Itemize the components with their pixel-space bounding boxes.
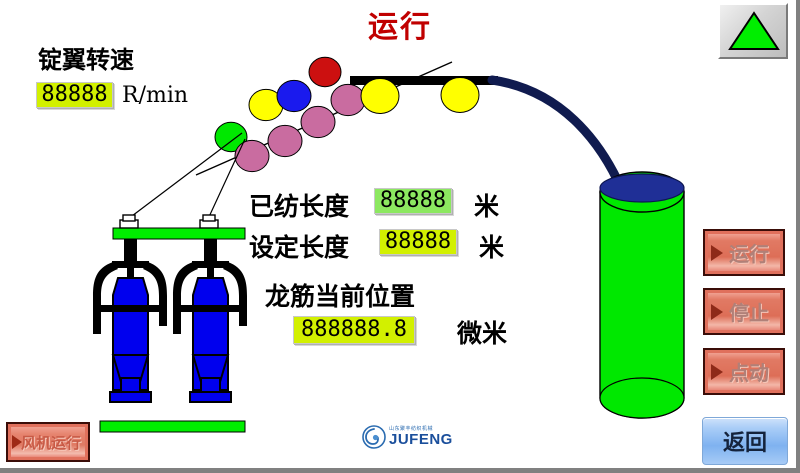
roving-package bbox=[331, 84, 365, 115]
hmi-screen: 运行 bbox=[0, 0, 800, 473]
flyer-speed-label: 锭翼转速 bbox=[38, 40, 134, 75]
roving-package bbox=[215, 122, 247, 151]
triangle-right-icon bbox=[12, 435, 22, 449]
roving-package bbox=[441, 78, 479, 113]
roving-package bbox=[277, 80, 311, 111]
jog-button-label: 点动 bbox=[729, 357, 769, 386]
rail-position-value[interactable]: 888888.8 bbox=[293, 316, 415, 344]
set-length-label: 设定长度 bbox=[249, 228, 349, 264]
logo-english-name: JUFENG bbox=[389, 432, 453, 447]
stop-button-label: 停止 bbox=[729, 297, 769, 326]
roving-package bbox=[249, 89, 283, 120]
flyer-speed-value[interactable]: 88888 bbox=[36, 82, 113, 108]
fan-run-button-face: 风机运行 bbox=[11, 427, 85, 457]
stop-button-face: 停止 bbox=[708, 293, 780, 330]
rail-position-label: 龙筋当前位置 bbox=[265, 277, 415, 313]
spun-length-value[interactable]: 88888 bbox=[374, 188, 452, 214]
roving-package bbox=[361, 79, 399, 114]
roving-package bbox=[301, 106, 335, 137]
triangle-right-icon bbox=[711, 304, 723, 320]
run-button-face: 运行 bbox=[708, 234, 780, 271]
triangle-right-icon bbox=[711, 245, 723, 261]
run-button[interactable]: 运行 bbox=[703, 229, 785, 276]
return-button-label: 返回 bbox=[723, 425, 767, 457]
flyer-speed-unit: R/min bbox=[122, 83, 188, 108]
brand-logo: 山东聚丰纺织机械 JUFENG bbox=[362, 425, 453, 449]
triangle-right-icon bbox=[711, 364, 723, 380]
run-button-label: 运行 bbox=[729, 238, 769, 267]
triangle-up-icon bbox=[728, 11, 780, 51]
stop-button[interactable]: 停止 bbox=[703, 288, 785, 335]
spun-length-label: 已纺长度 bbox=[249, 187, 349, 223]
rail-position-unit: 微米 bbox=[457, 314, 507, 350]
roving-package bbox=[268, 125, 302, 156]
return-button[interactable]: 返回 bbox=[702, 417, 788, 465]
up-triangle-button[interactable] bbox=[718, 3, 788, 59]
set-length-value[interactable]: 88888 bbox=[379, 229, 457, 255]
roving-package bbox=[235, 140, 269, 171]
spun-length-unit: 米 bbox=[474, 187, 499, 223]
roving-package bbox=[309, 57, 341, 86]
jog-button-face: 点动 bbox=[708, 353, 780, 390]
fan-run-button-label: 风机运行 bbox=[21, 432, 81, 453]
set-length-unit: 米 bbox=[479, 228, 504, 264]
fan-run-button[interactable]: 风机运行 bbox=[6, 422, 90, 462]
swirl-logo-icon bbox=[362, 425, 386, 449]
jog-button[interactable]: 点动 bbox=[703, 348, 785, 395]
